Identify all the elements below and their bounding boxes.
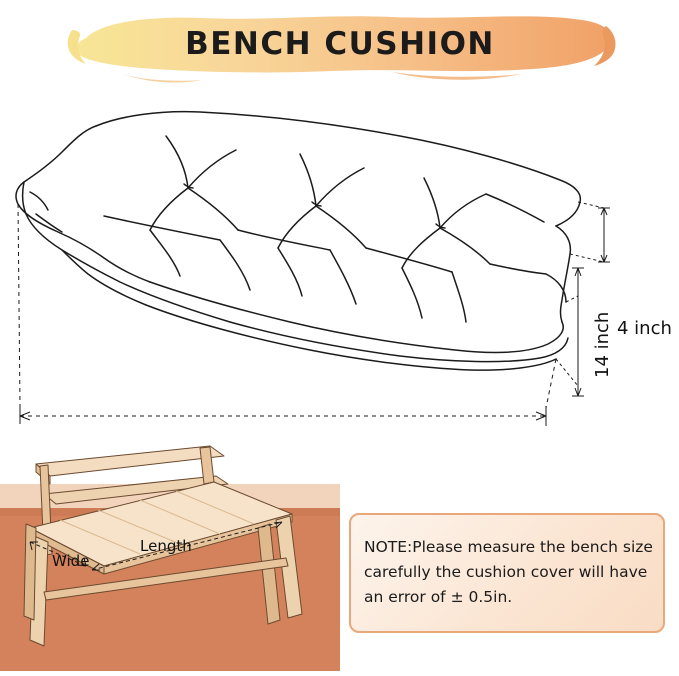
- note-text: NOTE:Please measure the bench size caref…: [364, 535, 654, 609]
- bench-wide-label: Wide: [52, 552, 89, 570]
- bench-illustration: Wide Length: [0, 424, 340, 671]
- page-title: BENCH CUSHION: [62, 26, 618, 62]
- cushion-height-label: 4 inch: [617, 318, 672, 339]
- cushion-width-label: 14 inch: [592, 312, 613, 378]
- bench-length-label: Length: [140, 537, 192, 555]
- product-dimension-infographic: BENCH CUSHION: [0, 0, 679, 671]
- title-banner: BENCH CUSHION: [62, 8, 618, 88]
- note-box: NOTE:Please measure the bench size caref…: [349, 513, 665, 633]
- cushion-drawing: [0, 96, 679, 426]
- cushion-illustration: 4 inch 14 inch 36 inch: [0, 96, 679, 426]
